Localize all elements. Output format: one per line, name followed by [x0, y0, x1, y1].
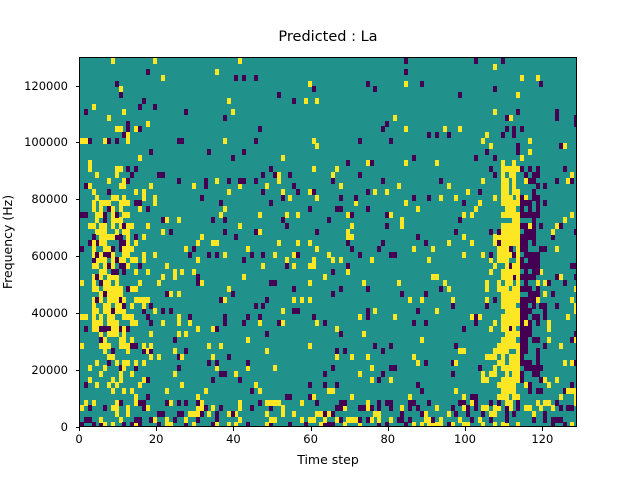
- y-tick-label: 40000: [31, 307, 68, 319]
- x-axis-label: Time step: [79, 453, 577, 467]
- y-tick-mark: [76, 256, 80, 257]
- x-tick-mark: [388, 427, 389, 431]
- y-axis-label: Frequency (Hz): [0, 57, 16, 427]
- x-tick-label: 120: [531, 433, 553, 445]
- x-tick-mark: [311, 427, 312, 431]
- y-tick-label: 20000: [31, 364, 68, 376]
- y-tick-label: 80000: [31, 193, 68, 205]
- y-tick-label: 0: [61, 421, 68, 433]
- x-tick-mark: [465, 427, 466, 431]
- y-tick-mark: [76, 199, 80, 200]
- x-tick-label: 60: [303, 433, 318, 445]
- x-tick-label: 0: [75, 433, 82, 445]
- y-tick-mark: [76, 86, 80, 87]
- x-tick-label: 40: [226, 433, 241, 445]
- x-tick-label: 80: [380, 433, 395, 445]
- y-tick-mark: [76, 142, 80, 143]
- x-tick-mark: [79, 427, 80, 431]
- x-tick-label: 100: [454, 433, 476, 445]
- x-tick-mark: [156, 427, 157, 431]
- page-title: Predicted : La: [79, 28, 577, 46]
- y-tick-label: 100000: [24, 136, 68, 148]
- y-tick-label: 60000: [31, 250, 68, 262]
- x-tick-mark: [542, 427, 543, 431]
- x-tick-label: 20: [149, 433, 164, 445]
- y-tick-mark: [76, 370, 80, 371]
- y-tick-mark: [76, 313, 80, 314]
- spectrogram-heatmap: [80, 58, 577, 427]
- x-tick-mark: [233, 427, 234, 431]
- matplotlib-figure: Predicted : La Time step Frequency (Hz) …: [0, 0, 640, 480]
- heatmap-axes: [79, 57, 577, 427]
- y-tick-label: 120000: [24, 80, 68, 92]
